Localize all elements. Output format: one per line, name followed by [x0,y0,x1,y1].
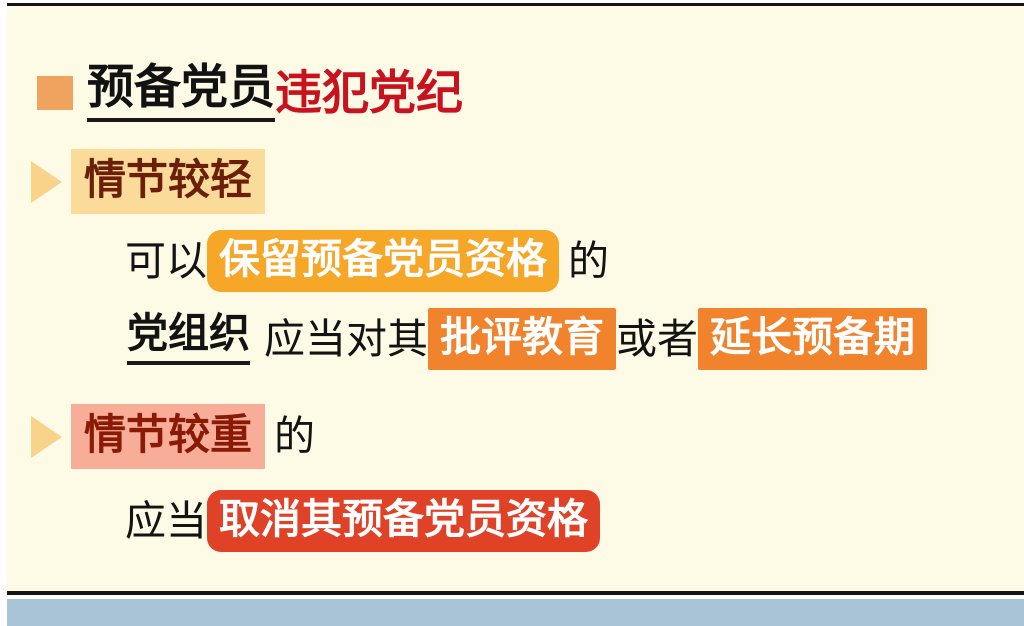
slide-root: 预备党员 违犯党纪 情节较轻 可以 保留预备党员资格 的 党组织 应当对其 批评… [0,0,1024,626]
section-light-heading: 情节较轻 [31,149,265,214]
title-line: 预备党员 违犯党纪 [37,64,463,122]
title-accent-text: 违犯党纪 [275,70,463,117]
title-primary-text: 预备党员 [87,64,275,122]
triangle-bullet-icon [31,161,62,203]
light-l2-seg-2: 应当对其 [264,319,428,360]
section-light-line-1: 可以 保留预备党员资格 的 [125,230,609,292]
section-heavy-heading: 情节较重 的 [31,404,315,469]
section-heavy-chip-suffix: 的 [274,416,315,457]
section-light-chip: 情节较轻 [71,149,265,214]
section-light-line-2: 党组织 应当对其 批评教育 或者 延长预备期 [127,308,927,370]
triangle-bullet-icon [31,416,62,458]
section-heavy-line-1: 应当 取消其预备党员资格 [125,490,600,552]
left-gutter [0,0,7,626]
light-l1-seg-1: 可以 [125,241,207,282]
heavy-l1-seg-1: 应当 [125,501,207,542]
bottom-status-bar [0,599,1024,626]
section-heavy-chip: 情节较重 [71,404,265,469]
light-l2-org-label: 党组织 [127,313,250,365]
light-l1-seg-3: 的 [568,241,609,282]
light-l2-highlight-1: 批评教育 [428,308,616,370]
heavy-l1-highlight: 取消其预备党员资格 [207,490,600,552]
square-bullet-icon [37,76,73,110]
slide-canvas: 预备党员 违犯党纪 情节较轻 可以 保留预备党员资格 的 党组织 应当对其 批评… [7,3,1024,595]
light-l2-highlight-2: 延长预备期 [698,308,927,370]
light-l1-highlight: 保留预备党员资格 [207,230,559,292]
light-l2-seg-4: 或者 [616,319,698,360]
